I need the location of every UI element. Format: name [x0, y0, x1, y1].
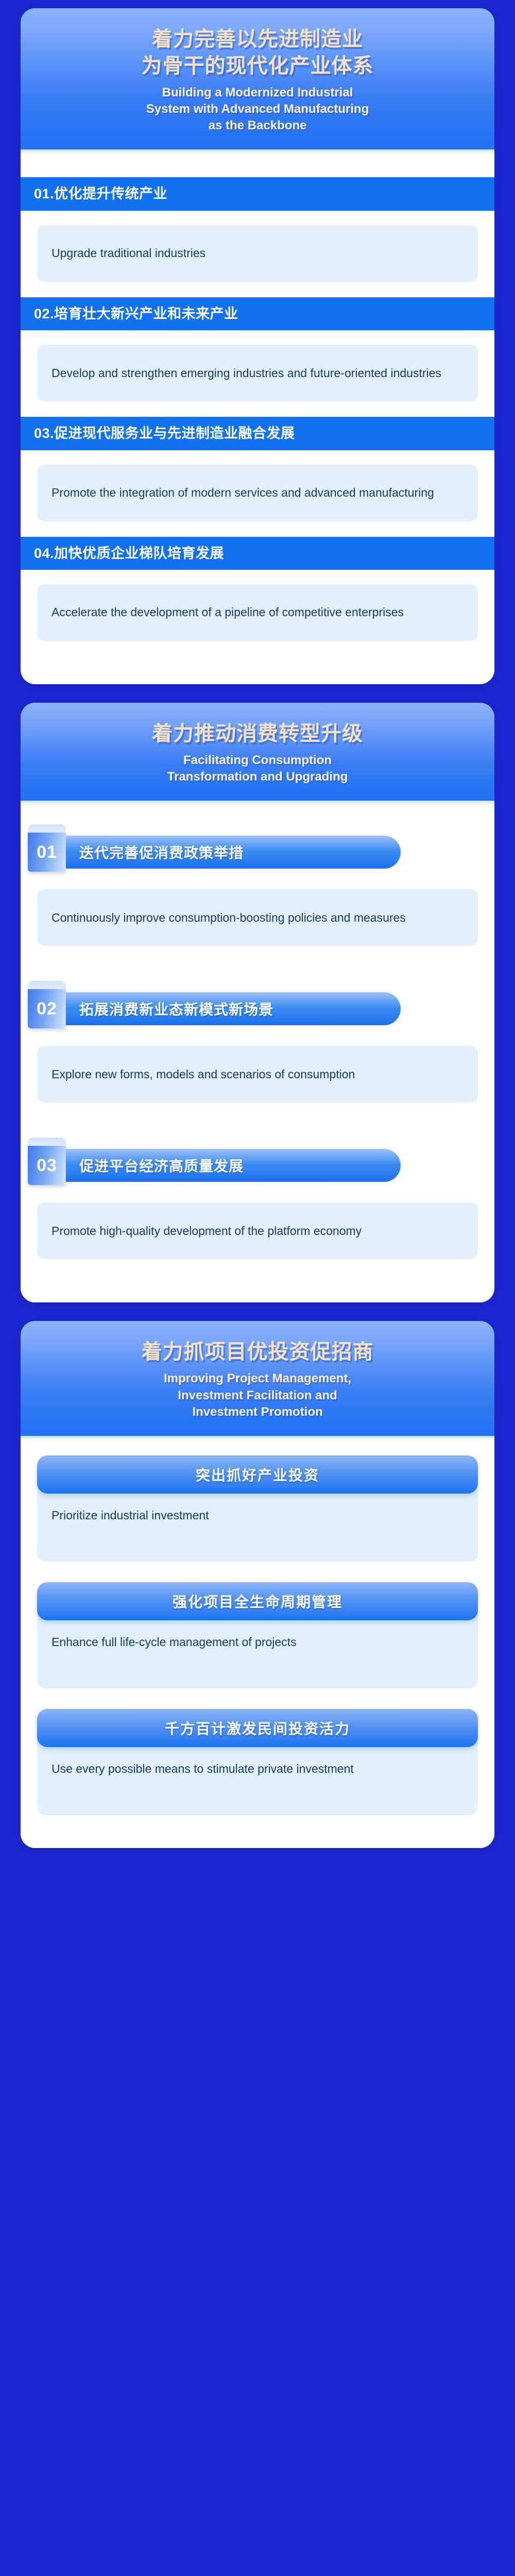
section-title-en: Improving Project Management, Investment…: [36, 1370, 479, 1420]
ribbon-banner[interactable]: 01 迭代完善促消费政策举措: [37, 833, 478, 872]
item-body-01: Upgrade traditional industries: [21, 211, 494, 297]
section-header-consumption: 着力推动消费转型升级 Facilitating Consumption Tran…: [21, 703, 494, 801]
item-strip-04[interactable]: 04.加快优质企业梯队培育发展: [21, 537, 494, 570]
info-box: Accelerate the development of a pipeline…: [37, 584, 478, 641]
section-title-cn: 着力推动消费转型升级: [36, 720, 479, 747]
strip-gap: [21, 154, 494, 177]
pill-item-01: 突出抓好产业投资 Prioritize industrial investmen…: [21, 1440, 494, 1567]
pill-banner[interactable]: 突出抓好产业投资: [37, 1455, 478, 1494]
header-divider: [21, 801, 494, 805]
item-strip-02[interactable]: 02.培育壮大新兴产业和未来产业: [21, 297, 494, 330]
item-text-en: Prioritize industrial investment: [51, 1506, 463, 1525]
info-box: Use every possible means to stimulate pr…: [37, 1738, 478, 1815]
section-title-en: Facilitating Consumption Transformation …: [36, 752, 479, 785]
ribbon-bar[interactable]: 迭代完善促消费政策举措: [66, 836, 401, 869]
ribbon-title-cn: 促进平台经济高质量发展: [79, 1155, 244, 1176]
card-bottom-spacer: [21, 656, 494, 684]
item-text-en: Upgrade traditional industries: [51, 244, 205, 263]
ribbon-item-03: 03 促进平台经济高质量发展: [21, 1118, 494, 1188]
ribbon-banner[interactable]: 02 拓展消费新业态新模式新场景: [37, 989, 478, 1028]
header-divider: [21, 149, 494, 154]
ribbon-body-03: Promote high-quality development of the …: [21, 1188, 494, 1275]
item-title-cn: 03.促进现代服务业与先进制造业融合发展: [34, 425, 481, 442]
section-header-investment: 着力抓项目优投资促招商 Improving Project Management…: [21, 1321, 494, 1435]
section-card-consumption: 着力推动消费转型升级 Facilitating Consumption Tran…: [21, 703, 494, 1302]
pill-item-02: 强化项目全生命周期管理 Enhance full life-cycle mana…: [21, 1567, 494, 1693]
pill-title-cn: 千方百计激发民间投资活力: [165, 1718, 350, 1738]
ribbon-body-01: Continuously improve consumption-boostin…: [21, 875, 494, 961]
item-body-04: Accelerate the development of a pipeline…: [21, 570, 494, 656]
info-box: Continuously improve consumption-boostin…: [37, 889, 478, 946]
section-header-industrial-system: 着力完善以先进制造业 为骨干的现代化产业体系 Building a Modern…: [21, 8, 494, 149]
pill-item-03: 千方百计激发民间投资活力 Use every possible means to…: [21, 1693, 494, 1820]
ribbon-title-cn: 拓展消费新业态新模式新场景: [79, 998, 273, 1019]
item-text-en: Use every possible means to stimulate pr…: [51, 1759, 463, 1778]
pill-banner[interactable]: 千方百计激发民间投资活力: [37, 1709, 478, 1747]
item-strip-01[interactable]: 01.优化提升传统产业: [21, 177, 494, 210]
item-title-cn: 02.培育壮大新兴产业和未来产业: [34, 306, 481, 322]
pill-title-cn: 强化项目全生命周期管理: [173, 1591, 342, 1612]
ribbon-item-01: 01 迭代完善促消费政策举措: [21, 805, 494, 875]
info-box: Promote the integration of modern servic…: [37, 465, 478, 521]
item-text-en: Enhance full life-cycle management of pr…: [51, 1633, 463, 1652]
section-title-en: Building a Modernized Industrial System …: [36, 84, 479, 134]
ribbon-bar[interactable]: 促进平台经济高质量发展: [66, 1149, 401, 1182]
ribbon-item-02: 02 拓展消费新业态新模式新场景: [21, 961, 494, 1031]
section-card-investment: 着力抓项目优投资促招商 Improving Project Management…: [21, 1321, 494, 1848]
ribbon-number-badge: 01: [28, 833, 66, 872]
section-card-industrial-system: 着力完善以先进制造业 为骨干的现代化产业体系 Building a Modern…: [21, 8, 494, 684]
ribbon-title-cn: 迭代完善促消费政策举措: [79, 842, 244, 862]
item-text-en: Develop and strengthen emerging industri…: [51, 364, 441, 383]
pill-title-cn: 突出抓好产业投资: [196, 1464, 319, 1485]
infographic-page: 着力完善以先进制造业 为骨干的现代化产业体系 Building a Modern…: [0, 0, 515, 2576]
info-box: Enhance full life-cycle management of pr…: [37, 1611, 478, 1688]
section-title-cn: 着力完善以先进制造业 为骨干的现代化产业体系: [36, 26, 479, 79]
item-text-en: Explore new forms, models and scenarios …: [51, 1065, 355, 1084]
info-box: Upgrade traditional industries: [37, 225, 478, 282]
ribbon-body-02: Explore new forms, models and scenarios …: [21, 1031, 494, 1118]
info-box: Promote high-quality development of the …: [37, 1202, 478, 1259]
info-box: Prioritize industrial investment: [37, 1484, 478, 1562]
item-title-cn: 01.优化提升传统产业: [34, 185, 481, 202]
item-body-03: Promote the integration of modern servic…: [21, 450, 494, 537]
item-strip-03[interactable]: 03.促进现代服务业与先进制造业融合发展: [21, 417, 494, 450]
info-box: Explore new forms, models and scenarios …: [37, 1046, 478, 1103]
item-title-cn: 04.加快优质企业梯队培育发展: [34, 545, 481, 562]
ribbon-bar[interactable]: 拓展消费新业态新模式新场景: [66, 992, 401, 1025]
info-box: Develop and strengthen emerging industri…: [37, 345, 478, 401]
item-body-02: Develop and strengthen emerging industri…: [21, 330, 494, 417]
item-text-en: Continuously improve consumption-boostin…: [51, 908, 406, 927]
ribbon-banner[interactable]: 03 促进平台经济高质量发展: [37, 1146, 478, 1185]
item-text-en: Promote high-quality development of the …: [51, 1222, 362, 1241]
ribbon-number-badge: 03: [28, 1146, 66, 1185]
pill-banner[interactable]: 强化项目全生命周期管理: [37, 1582, 478, 1620]
item-text-en: Promote the integration of modern servic…: [51, 483, 434, 502]
item-text-en: Accelerate the development of a pipeline…: [51, 603, 404, 622]
card-bottom-spacer: [21, 1820, 494, 1848]
ribbon-number-badge: 02: [28, 989, 66, 1028]
header-divider: [21, 1436, 494, 1440]
section-title-cn: 着力抓项目优投资促招商: [36, 1338, 479, 1365]
card-bottom-spacer: [21, 1275, 494, 1302]
